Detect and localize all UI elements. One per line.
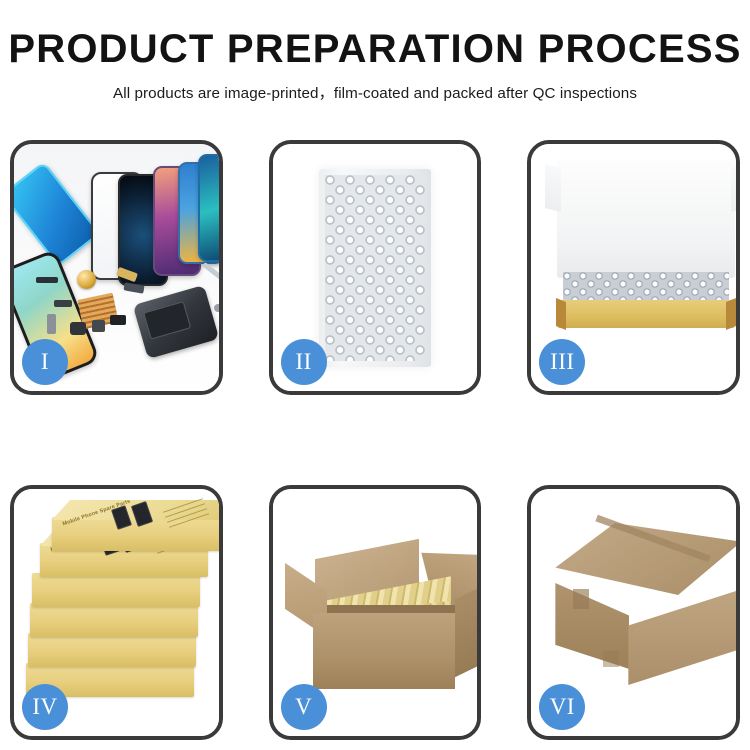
- inner-box-lid: [557, 160, 735, 278]
- retail-box-stack: Mobile Phone Spare Parts Mobile Phone Sp…: [26, 513, 219, 703]
- bubble-wrap-sheet: [319, 169, 431, 367]
- process-step-5[interactable]: V: [269, 485, 482, 740]
- process-step-4[interactable]: Mobile Phone Spare Parts Mobile Phone Sp…: [10, 485, 223, 740]
- page-header: PRODUCT PREPARATION PROCESS All products…: [0, 0, 750, 103]
- retail-box: [32, 573, 200, 607]
- carton-front-panel: [313, 613, 455, 689]
- step-badge-5: V: [281, 684, 327, 730]
- bubble-pattern: [325, 175, 425, 361]
- step-badge-1: I: [22, 339, 68, 385]
- retail-box: [30, 603, 198, 637]
- carton-side-panel: [455, 583, 478, 678]
- step-badge-6: VI: [539, 684, 585, 730]
- spare-part: [54, 300, 72, 307]
- inner-box-contents-bubble-wrap: [563, 272, 729, 302]
- process-step-grid: I II III Mobile Ph: [10, 140, 740, 740]
- carton-right-panel: [628, 589, 736, 685]
- process-step-2[interactable]: II: [269, 140, 482, 395]
- phone-chassis-part: [133, 285, 219, 359]
- step-badge-4: IV: [22, 684, 68, 730]
- inner-box-front-panel: [557, 300, 735, 328]
- spare-part: [110, 315, 126, 325]
- step-badge-3: III: [539, 339, 585, 385]
- carton-corner-tab: [573, 589, 589, 609]
- process-step-6[interactable]: VI: [527, 485, 740, 740]
- spare-part: [92, 320, 105, 332]
- retail-box-upper-labelled: Mobile Phone Spare Parts: [52, 517, 219, 551]
- phone-screen-blue-tilted: [14, 161, 101, 267]
- screw-part: [214, 304, 219, 312]
- camera-ring-part: [77, 270, 96, 289]
- retail-box: [28, 633, 196, 667]
- carton-corner-tab: [603, 651, 619, 667]
- spare-part: [70, 322, 86, 335]
- sealed-shipping-carton: [549, 523, 736, 693]
- process-step-1[interactable]: I: [10, 140, 223, 395]
- spare-part: [36, 277, 58, 283]
- spare-part: [47, 314, 56, 334]
- page-subtitle: All products are image-printed，film-coat…: [0, 81, 750, 103]
- phone-screen-teal: [198, 154, 219, 262]
- process-step-3[interactable]: III: [527, 140, 740, 395]
- page-title: PRODUCT PREPARATION PROCESS: [0, 28, 750, 70]
- step-badge-2: II: [281, 339, 327, 385]
- open-shipping-carton: [291, 531, 478, 691]
